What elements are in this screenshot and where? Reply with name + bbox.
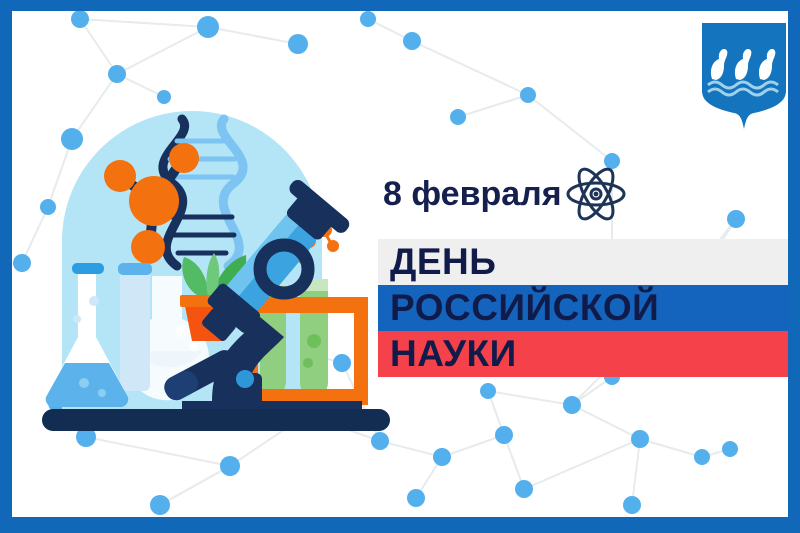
network-line — [80, 19, 117, 74]
network-line — [572, 405, 640, 439]
network-line — [380, 441, 442, 457]
network-dot — [433, 448, 451, 466]
illustration-base-bar — [42, 409, 390, 431]
network-dot — [520, 87, 536, 103]
network-line — [640, 439, 702, 457]
network-line — [208, 27, 298, 44]
network-dot — [71, 11, 89, 28]
atom-icon — [564, 165, 628, 223]
network-line — [528, 95, 612, 161]
network-dot — [108, 65, 126, 83]
surgut-coat-of-arms — [696, 21, 788, 133]
network-line — [632, 439, 640, 505]
network-dot — [220, 456, 240, 476]
network-dot — [631, 430, 649, 448]
network-line — [86, 437, 230, 466]
network-dot — [197, 16, 219, 38]
network-dot — [623, 496, 641, 514]
network-line — [524, 439, 640, 489]
network-dot — [563, 396, 581, 414]
network-dot — [694, 449, 710, 465]
poster-inner-frame: 8 февраля ДЕНЬ РОССИЙСКОЙ НАУКИ — [12, 11, 788, 517]
title-block: ДЕНЬ РОССИЙСКОЙ НАУКИ — [378, 239, 788, 377]
network-dot — [727, 210, 745, 228]
network-line — [488, 391, 572, 405]
network-line — [442, 435, 504, 457]
network-line — [80, 19, 208, 27]
title-line-3: НАУКИ — [390, 335, 517, 372]
network-dot — [515, 480, 533, 498]
network-dot — [722, 441, 738, 457]
network-dot — [360, 11, 376, 27]
network-dot — [150, 495, 170, 515]
science-illustration — [32, 101, 392, 431]
network-line — [117, 27, 208, 74]
network-dot — [407, 489, 425, 507]
network-line — [458, 95, 528, 117]
title-band-blue: РОССИЙСКОЙ — [378, 285, 788, 331]
title-line-1: ДЕНЬ — [390, 243, 496, 280]
tall-tube-icon — [118, 263, 152, 391]
title-band-white: ДЕНЬ — [378, 239, 788, 285]
network-dot — [371, 432, 389, 450]
date-row: 8 февраля — [383, 166, 628, 222]
network-line — [160, 466, 230, 505]
network-dot — [495, 426, 513, 444]
title-line-2: РОССИЙСКОЙ — [390, 289, 659, 326]
network-dot — [13, 254, 31, 272]
network-dot — [403, 32, 421, 50]
network-dot — [450, 109, 466, 125]
poster-root: 8 февраля ДЕНЬ РОССИЙСКОЙ НАУКИ — [0, 0, 800, 533]
network-dot — [480, 383, 496, 399]
network-line — [412, 41, 528, 95]
network-dot — [288, 34, 308, 54]
title-band-red: НАУКИ — [378, 331, 788, 377]
date-label: 8 февраля — [383, 177, 562, 211]
